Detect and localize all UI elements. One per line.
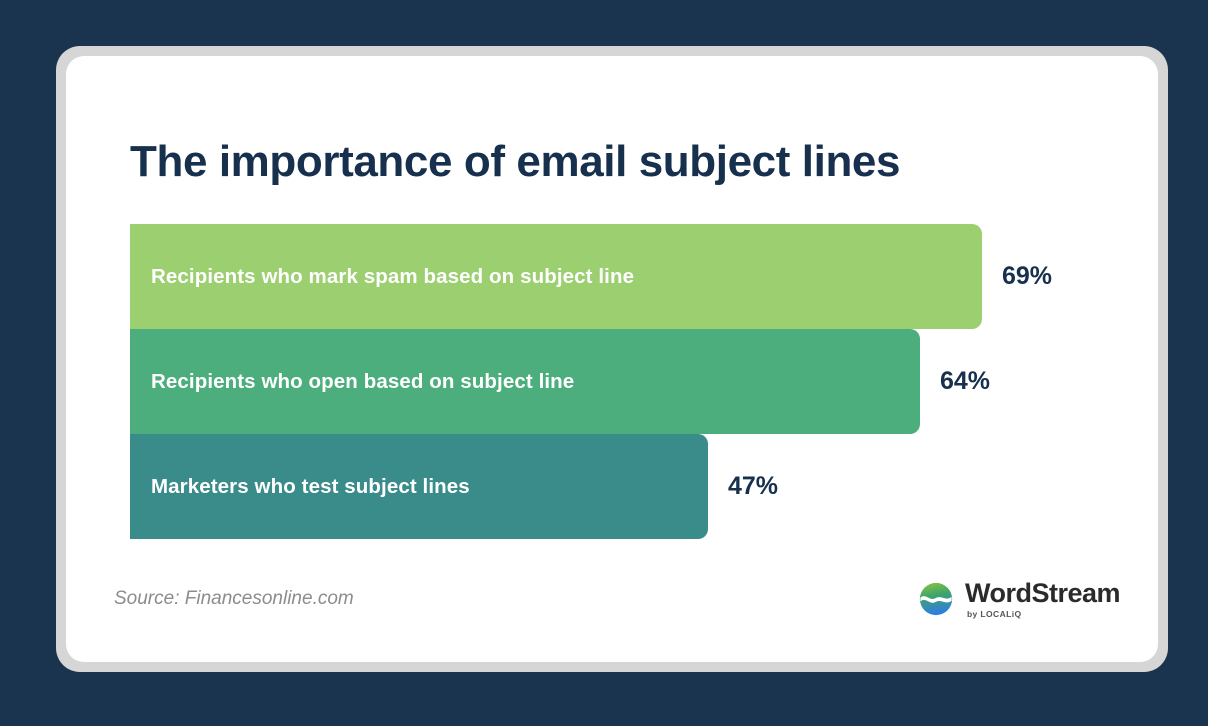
bar-label: Recipients who open based on subject lin…: [151, 370, 574, 394]
bar-label: Marketers who test subject lines: [151, 475, 470, 499]
bar-label: Recipients who mark spam based on subjec…: [151, 265, 634, 289]
bar-value: 47%: [728, 472, 778, 501]
card-outer-ring: The importance of email subject lines Re…: [56, 46, 1168, 672]
page-title: The importance of email subject lines: [130, 137, 900, 187]
wordstream-wave-logo-icon: [919, 582, 953, 616]
bar-value: 69%: [1002, 262, 1052, 291]
bar-row: Recipients who open based on subject lin…: [130, 329, 1118, 434]
bar-value: 64%: [940, 367, 990, 396]
source-note: Source: Financesonline.com: [114, 588, 354, 610]
bar-row: Recipients who mark spam based on subjec…: [130, 224, 1118, 329]
brand-subtitle: by LOCALiQ: [967, 610, 1120, 619]
bar-segment: Marketers who test subject lines: [130, 434, 708, 539]
bar-segment: Recipients who mark spam based on subjec…: [130, 224, 982, 329]
brand-text: WordStream by LOCALiQ: [965, 580, 1120, 619]
bar-segment: Recipients who open based on subject lin…: [130, 329, 920, 434]
infographic-card: The importance of email subject lines Re…: [66, 56, 1158, 662]
brand-logo: WordStream by LOCALiQ: [919, 580, 1120, 619]
brand-name: WordStream: [965, 580, 1120, 607]
bar-chart: Recipients who mark spam based on subjec…: [130, 224, 1118, 539]
infographic-frame: The importance of email subject lines Re…: [8, 8, 1200, 718]
bar-row: Marketers who test subject lines 47%: [130, 434, 1118, 539]
